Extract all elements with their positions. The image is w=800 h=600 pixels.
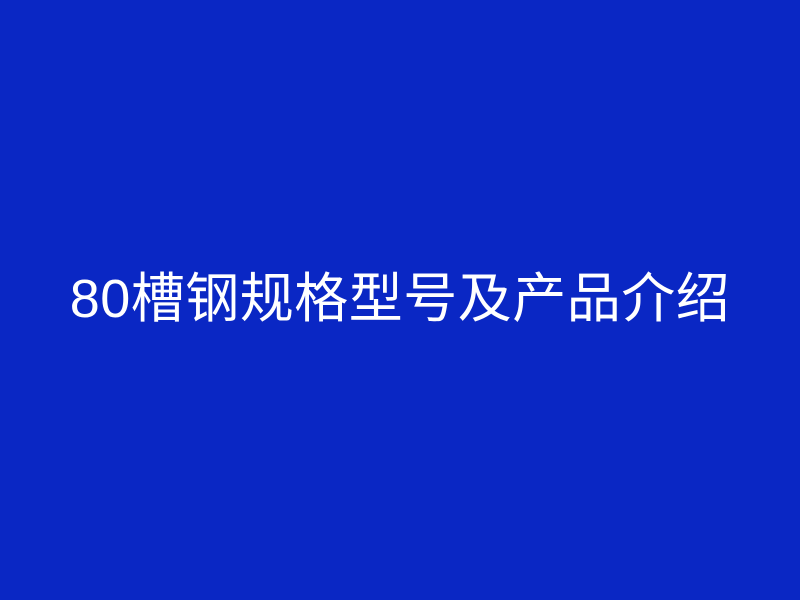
headline-container: 80槽钢规格型号及产品介绍 [0, 0, 800, 600]
banner-headline: 80槽钢规格型号及产品介绍 [70, 270, 731, 329]
title-banner: 80槽钢规格型号及产品介绍 [0, 0, 800, 600]
